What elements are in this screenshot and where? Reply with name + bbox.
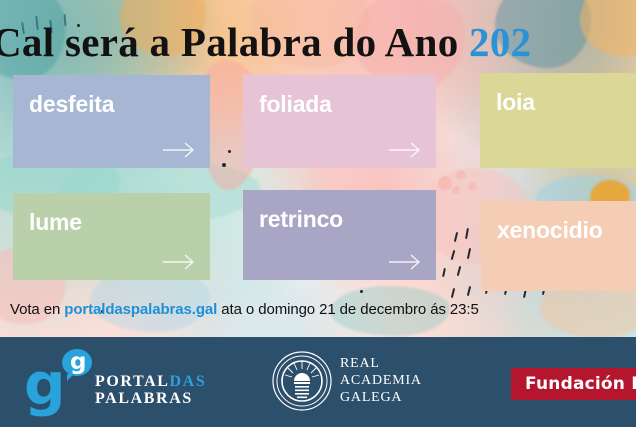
portal-logo-das: DAS (170, 373, 207, 390)
portal-logo-line1: PORTALDAS (95, 373, 206, 390)
bg-dash-5 (457, 266, 462, 276)
fundacion-badge-label: Fundación F (525, 374, 636, 394)
portal-das-palabras-logo[interactable]: g g PORTALDAS PALABRAS (24, 349, 194, 413)
word-card-label: desfeita (29, 93, 114, 116)
bg-dot-2 (456, 170, 466, 180)
bg-dot-4 (468, 182, 477, 191)
portal-link[interactable]: portaldaspalabras.gal (64, 301, 217, 318)
bg-dash-7 (467, 286, 471, 296)
portal-logo-wordmark: PORTALDAS PALABRAS (95, 373, 206, 407)
vote-instruction: Vota en portaldaspalabras.gal ata o domi… (10, 301, 479, 318)
word-card-xenocidio[interactable]: xenocidio (481, 201, 636, 291)
fundacion-badge[interactable]: Fundación F (511, 368, 636, 400)
rag-seal-icon (272, 351, 332, 411)
vote-prefix: Vota en (10, 301, 64, 318)
bg-speck-1 (228, 150, 231, 153)
portal-logo-g-mark: g (24, 355, 66, 413)
bg-speck-2 (222, 163, 226, 167)
palabra-do-ano-poster: Cal será a Palabra do Ano 202 desfeita f… (0, 0, 636, 427)
rag-line3: GALEGA (340, 389, 422, 406)
arrow-right-icon (388, 141, 422, 159)
word-card-label: foliada (259, 93, 332, 116)
word-card-foliada[interactable]: foliada (243, 75, 436, 168)
arrow-right-icon (162, 253, 196, 271)
rag-line1: REAL (340, 355, 422, 372)
portal-logo-portal: PORTAL (95, 373, 170, 390)
word-card-label: loia (496, 91, 535, 114)
word-card-retrinco[interactable]: retrinco (243, 190, 436, 280)
bg-dash-6 (442, 268, 446, 277)
portal-logo-line2: PALABRAS (95, 390, 206, 407)
arrow-right-icon (388, 253, 422, 271)
word-card-label: retrinco (259, 208, 343, 231)
poster-title-main: Cal será a Palabra do Ano (0, 19, 469, 65)
vote-suffix: ata o domingo 21 de decembro ás 23:5 (217, 301, 478, 318)
poster-title: Cal será a Palabra do Ano 202 (0, 16, 636, 68)
word-card-loia[interactable]: loia (480, 73, 636, 168)
poster-title-year: 202 (469, 19, 531, 65)
bg-dash-8 (451, 288, 455, 298)
bg-dot-3 (452, 186, 460, 194)
word-card-label: lume (29, 211, 82, 234)
rag-line2: ACADEMIA (340, 372, 422, 389)
word-card-desfeita[interactable]: desfeita (13, 75, 210, 168)
bg-speck-4 (360, 290, 363, 293)
real-academia-galega-logo[interactable]: REAL ACADEMIA GALEGA (272, 349, 452, 415)
portal-logo-bubble-g: g (70, 350, 86, 375)
rag-wordmark: REAL ACADEMIA GALEGA (340, 355, 422, 406)
bg-dot-1 (438, 176, 452, 190)
word-card-label: xenocidio (497, 219, 603, 242)
arrow-right-icon (162, 141, 196, 159)
word-card-lume[interactable]: lume (13, 193, 210, 280)
